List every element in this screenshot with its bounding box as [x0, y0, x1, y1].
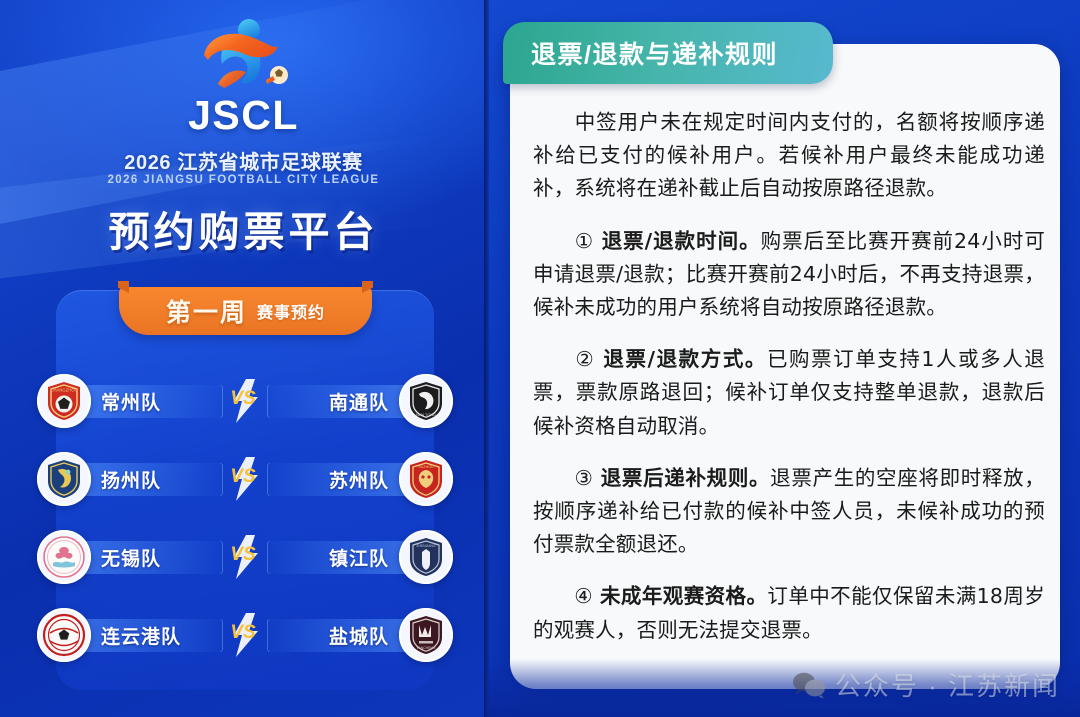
- match-row[interactable]: 扬州队 VS 苏州队: [56, 450, 434, 508]
- rule-item: ② 退票/退款方式。已购票订单支持1人或多人退票，票款原路退回；候补订单仅支持整…: [533, 343, 1045, 443]
- away-team-name: 盐城队: [267, 619, 411, 652]
- away-team-name: 苏州队: [267, 463, 411, 496]
- rules-body: 中签用户未在规定时间内支付的，名额将按顺序递补给已支付的候补用户。若候补用户最终…: [533, 106, 1045, 666]
- rules-intro-text: 中签用户未在规定时间内支付的，名额将按顺序递补给已支付的候补用户。若候补用户最终…: [533, 110, 1045, 200]
- rules-intro-paragraph: 中签用户未在规定时间内支付的，名额将按顺序递补给已支付的候补用户。若候补用户最终…: [533, 106, 1045, 206]
- rule-item: ④ 未成年观赛资格。订单中不能仅保留未满18周岁的观赛人，否则无法提交退票。: [533, 580, 1045, 646]
- away-team-name: 镇江队: [267, 541, 411, 574]
- home-team-name: 无锡队: [79, 541, 223, 574]
- vs-icon: VS: [223, 377, 267, 425]
- page-title: 预约购票平台: [0, 198, 487, 258]
- week-banner: 第一周 赛事预约: [119, 287, 372, 335]
- match-list: CHANGZHOU 常州队 VS 南通队: [56, 372, 434, 684]
- yangzhou-crest-icon: [37, 452, 91, 506]
- rule-number: ①: [574, 229, 594, 253]
- svg-text:VS: VS: [230, 466, 256, 487]
- svg-text:ZHENJIANG: ZHENJIANG: [416, 544, 436, 548]
- rule-heading: 退票后递补规则。: [601, 466, 770, 490]
- vs-icon: VS: [223, 533, 267, 581]
- yancheng-crest-icon: YANCHENG: [399, 608, 453, 662]
- home-team-name: 常州队: [79, 385, 223, 418]
- wuxi-crest-icon: [37, 530, 91, 584]
- rule-heading: 未成年观赛资格。: [600, 584, 767, 608]
- svg-text:CHANGZHOU: CHANGZHOU: [51, 388, 78, 393]
- week-banner-main: 第一周: [166, 293, 247, 329]
- svg-text:VS: VS: [230, 388, 256, 409]
- svg-text:YANCHENG: YANCHENG: [417, 646, 436, 650]
- svg-text:VS: VS: [230, 622, 256, 643]
- rules-tab-title: 退票/退款与递补规则: [531, 35, 778, 71]
- wechat-icon: [792, 671, 826, 699]
- svg-text:SUZHOU: SUZHOU: [418, 465, 434, 469]
- nantong-crest-icon: NAN TONG: [399, 374, 453, 428]
- match-row[interactable]: 无锡队 VS 镇江队 ZHENJIANG: [56, 528, 434, 586]
- lianyungang-crest-icon: [37, 608, 91, 662]
- match-row[interactable]: CHANGZHOU 常州队 VS 南通队: [56, 372, 434, 430]
- right-rules-panel: 退票/退款与递补规则 中签用户未在规定时间内支付的，名额将按顺序递补给已支付的候…: [487, 0, 1080, 717]
- watermark-text: 公众号 · 江苏新闻: [835, 666, 1060, 703]
- rule-item: ③ 退票后递补规则。退票产生的空座将即时释放，按顺序递补给已付款的候补中签人员，…: [533, 462, 1045, 562]
- rule-heading: 退票/退款方式。: [603, 347, 767, 371]
- left-promo-panel: JSCL 2026 江苏省城市足球联赛 2026 JIANGSU FOOTBAL…: [0, 0, 487, 717]
- watermark: 公众号 · 江苏新闻: [792, 666, 1060, 703]
- svg-text:NAN TONG: NAN TONG: [416, 413, 436, 417]
- poster-stage: JSCL 2026 江苏省城市足球联赛 2026 JIANGSU FOOTBAL…: [0, 0, 1080, 717]
- svg-text:VS: VS: [230, 544, 256, 565]
- vs-icon: VS: [223, 611, 267, 659]
- zhenjiang-crest-icon: ZHENJIANG: [399, 530, 453, 584]
- vs-icon: VS: [223, 455, 267, 503]
- rule-number: ④: [574, 584, 593, 608]
- panel-divider: [484, 0, 489, 717]
- week-banner-sub: 赛事预约: [257, 299, 325, 323]
- jscl-football-logo-icon: [178, 12, 306, 104]
- home-team-name: 连云港队: [79, 619, 223, 652]
- jscl-acronym: JSCL: [0, 92, 487, 139]
- home-team-name: 扬州队: [79, 463, 223, 496]
- league-name-en: 2026 JIANGSU FOOTBALL CITY LEAGUE: [0, 174, 487, 186]
- league-name-cn: 2026 江苏省城市足球联赛: [0, 146, 487, 175]
- away-team-name: 南通队: [267, 385, 411, 418]
- changzhou-crest-icon: CHANGZHOU: [37, 374, 91, 428]
- suzhou-crest-icon: SUZHOU: [399, 452, 453, 506]
- rule-heading: 退票/退款时间。: [602, 229, 761, 253]
- rules-tab: 退票/退款与递补规则: [503, 22, 833, 84]
- match-row[interactable]: 连云港队 VS 盐城队 YAN: [56, 606, 434, 664]
- rule-number: ②: [574, 347, 595, 371]
- rule-number: ③: [574, 466, 594, 490]
- rule-item: ① 退票/退款时间。购票后至比赛开赛前24小时可申请退票/退款；比赛开赛前24小…: [533, 225, 1045, 325]
